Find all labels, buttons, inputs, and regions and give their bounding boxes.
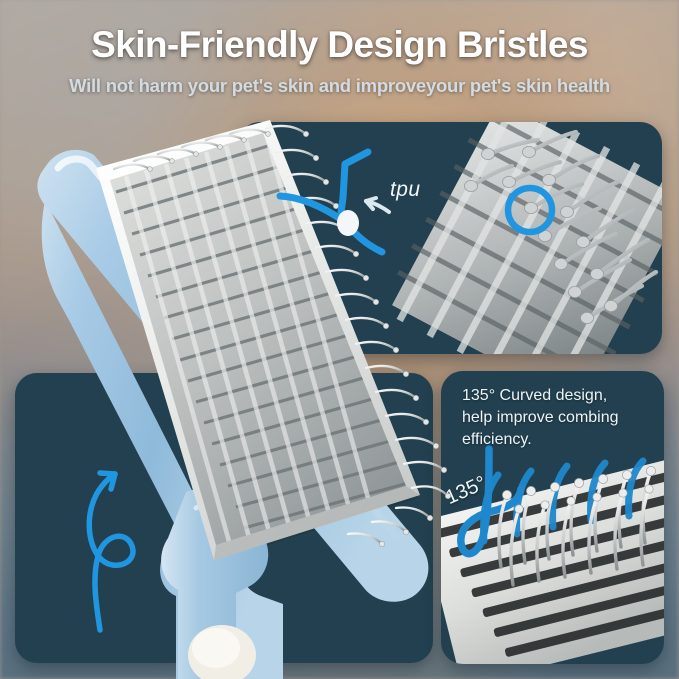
- angle-caption-line3: efficiency.: [462, 429, 652, 451]
- tpu-caption-line2: willnot hurt your pet skin: [145, 304, 375, 328]
- page-title: Skin-Friendly Design Bristles: [0, 0, 679, 66]
- tpu-caption: Rubber-coated bristles willnot hurt your…: [145, 280, 375, 327]
- angle-caption: 135° Curved design, help improve combing…: [462, 385, 652, 451]
- card-rotating-handle: [15, 373, 433, 663]
- product-infographic: Skin-Friendly Design Bristles Will not h…: [0, 0, 679, 679]
- tpu-label: tpu: [390, 178, 420, 202]
- page-subtitle: Will not harm your pet's skin and improv…: [0, 66, 679, 97]
- angle-caption-line2: help improve combing: [462, 407, 652, 429]
- angle-caption-line1: 135° Curved design,: [462, 385, 652, 407]
- header: Skin-Friendly Design Bristles Will not h…: [0, 0, 679, 97]
- tpu-caption-line1: Rubber-coated bristles: [145, 280, 375, 304]
